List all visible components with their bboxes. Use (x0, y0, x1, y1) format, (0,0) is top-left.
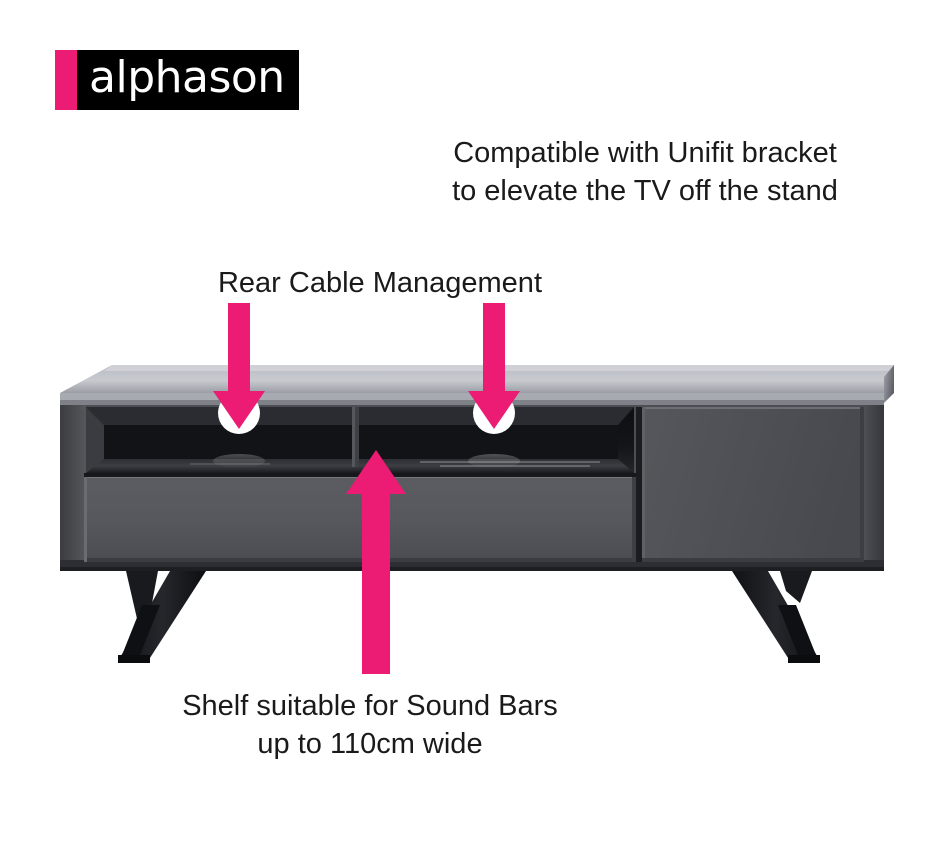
leg-right (732, 571, 820, 663)
logo-accent-bar (55, 50, 77, 110)
logo-black-box: alphason (77, 50, 299, 110)
callout-soundbar-text: Shelf suitable for Sound Bars up to 110c… (130, 687, 610, 764)
brand-logo: alphason (55, 50, 299, 110)
down-arrow-cable-right (461, 303, 527, 431)
logo-wordmark: alphason (89, 56, 285, 100)
leg-left (118, 571, 206, 663)
infographic-canvas: alphason (0, 0, 938, 868)
cabinet-door (636, 407, 864, 562)
callout-cable-management-text: Rear Cable Management (150, 264, 610, 302)
down-arrow-cable-left (206, 303, 272, 431)
callout-bracket-text: Compatible with Unifit bracket to elevat… (410, 134, 880, 211)
up-arrow-soundbar-shelf (338, 448, 414, 676)
